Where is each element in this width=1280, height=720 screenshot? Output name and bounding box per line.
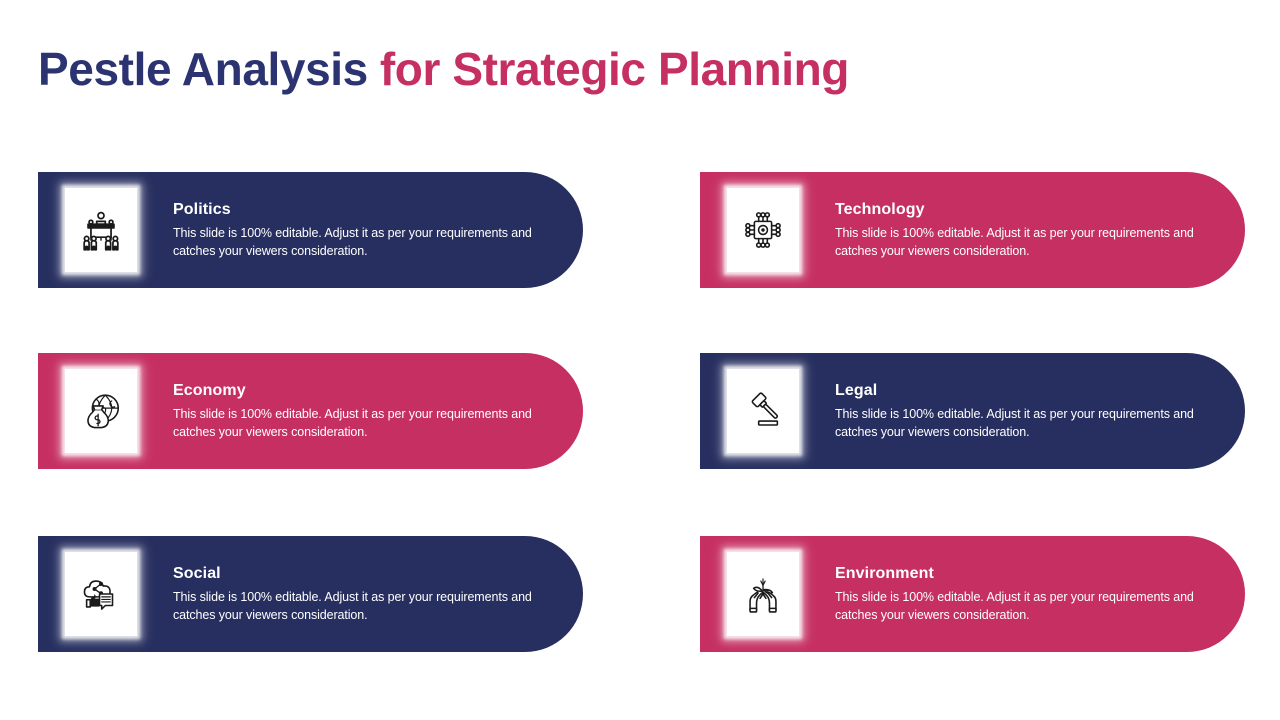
icon-tile-politics [65, 188, 137, 272]
icon-tile-social [65, 552, 137, 636]
card-title-technology: Technology [835, 200, 1225, 219]
card-title-legal: Legal [835, 381, 1225, 400]
card-text-economy: Economy This slide is 100% editable. Adj… [137, 381, 583, 441]
pestle-card-grid: Politics This slide is 100% editable. Ad… [0, 0, 1280, 720]
card-text-legal: Legal This slide is 100% editable. Adjus… [799, 381, 1245, 441]
pestle-card-technology[interactable]: Technology This slide is 100% editable. … [700, 172, 1245, 288]
card-title-environment: Environment [835, 564, 1225, 583]
icon-tile-economy [65, 369, 137, 453]
podium-audience-icon [78, 207, 124, 253]
gavel-icon [740, 388, 786, 434]
pestle-card-economy[interactable]: Economy This slide is 100% editable. Adj… [38, 353, 583, 469]
card-text-technology: Technology This slide is 100% editable. … [799, 200, 1245, 260]
card-title-economy: Economy [173, 381, 563, 400]
card-text-politics: Politics This slide is 100% editable. Ad… [137, 200, 583, 260]
card-description-economy: This slide is 100% editable. Adjust it a… [173, 406, 553, 441]
pestle-card-environment[interactable]: Environment This slide is 100% editable.… [700, 536, 1245, 652]
pestle-card-legal[interactable]: Legal This slide is 100% editable. Adjus… [700, 353, 1245, 469]
icon-tile-environment [727, 552, 799, 636]
card-description-technology: This slide is 100% editable. Adjust it a… [835, 225, 1215, 260]
pestle-card-politics[interactable]: Politics This slide is 100% editable. Ad… [38, 172, 583, 288]
card-text-environment: Environment This slide is 100% editable.… [799, 564, 1245, 624]
card-title-social: Social [173, 564, 563, 583]
card-description-legal: This slide is 100% editable. Adjust it a… [835, 406, 1215, 441]
card-text-social: Social This slide is 100% editable. Adju… [137, 564, 583, 624]
card-title-politics: Politics [173, 200, 563, 219]
card-description-environment: This slide is 100% editable. Adjust it a… [835, 589, 1215, 624]
icon-tile-legal [727, 369, 799, 453]
icon-tile-technology [727, 188, 799, 272]
cloud-share-thumbsup-icon [78, 571, 124, 617]
hands-plant-icon [740, 571, 786, 617]
money-bag-globe-icon [78, 388, 124, 434]
card-description-social: This slide is 100% editable. Adjust it a… [173, 589, 553, 624]
cpu-chip-icon [740, 207, 786, 253]
slide-canvas: Pestle Analysisfor Strategic Planning [0, 0, 1280, 720]
card-description-politics: This slide is 100% editable. Adjust it a… [173, 225, 553, 260]
pestle-card-social[interactable]: Social This slide is 100% editable. Adju… [38, 536, 583, 652]
